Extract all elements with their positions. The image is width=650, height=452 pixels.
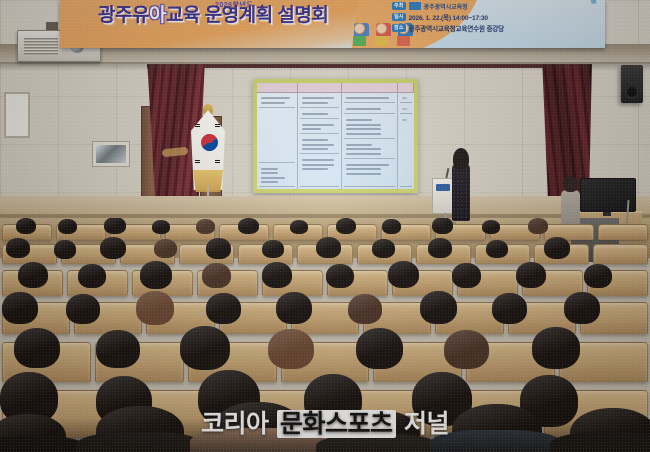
- attendee-head: [532, 327, 580, 369]
- watermark-highlight: 문화스포츠: [277, 410, 396, 438]
- attendee-head: [336, 218, 356, 234]
- attendee-head: [238, 218, 259, 234]
- attendee-head: [584, 264, 612, 288]
- banner-datetime-row: 일시 2026. 1. 22.(목) 14:00~17:30: [392, 12, 597, 23]
- trigram-top-right: [215, 124, 220, 128]
- attendee-head: [432, 218, 453, 234]
- attendee-head: [2, 292, 38, 324]
- venue-text: 광주광역시교육청교육연수원 중강당: [409, 23, 505, 33]
- organizer-name: 광주광역시교육청: [424, 2, 468, 11]
- attendee-head: [388, 261, 419, 288]
- banner-title: 광주유아교육 운영계획 설명회: [98, 6, 328, 25]
- slide-table-body: [257, 93, 414, 189]
- attendee-head: [206, 238, 231, 259]
- watermark: 코리아 문화스포츠 저널: [0, 404, 650, 440]
- attendee-head: [262, 262, 292, 288]
- attendee-head: [444, 330, 489, 369]
- taeguk-symbol-icon: [201, 134, 218, 151]
- attendee-head: [78, 264, 106, 288]
- attendee-head: [516, 262, 546, 288]
- attendee-head: [348, 294, 382, 324]
- attendee-head: [54, 240, 76, 259]
- attendee-head: [372, 239, 395, 258]
- banner-title-highlight: 아: [149, 5, 166, 26]
- trigram-top-left: [195, 124, 200, 128]
- wall-notice-frame: [4, 92, 30, 138]
- attendee-head: [16, 218, 36, 234]
- attendee-head: [100, 237, 126, 259]
- attendee-head: [140, 261, 172, 289]
- banner-title-part2: 교육 운영계획 설명회: [166, 5, 328, 26]
- presenter-figure: [450, 150, 472, 226]
- attendee-head: [564, 292, 600, 324]
- wall-control-window: [93, 142, 129, 166]
- attendee-head: [482, 220, 500, 234]
- attendee-head: [14, 328, 60, 368]
- soffit-shadow: [0, 62, 650, 71]
- attendee-head: [382, 219, 401, 234]
- event-banner: 2026학년도 광주유아교육 운영계획 설명회 주최 광주광역시교육청: [60, 0, 605, 48]
- attendee-head: [180, 326, 230, 370]
- slide-content: [257, 83, 414, 189]
- datetime-text: 2026. 1. 22.(목) 14:00~17:30: [409, 12, 488, 22]
- watermark-suffix: 저널: [404, 410, 449, 438]
- av-operator-hair: [563, 176, 578, 192]
- attendee-head: [326, 264, 354, 288]
- podium-nameplate: [436, 184, 450, 191]
- attendee-head: [6, 238, 30, 258]
- attendee-head: [428, 238, 452, 258]
- projector-vent: [24, 38, 58, 55]
- attendee-head: [58, 219, 77, 234]
- photograph-seminar-hall: 2026학년도 광주유아교육 운영계획 설명회 주최 광주광역시교육청: [0, 0, 650, 452]
- education-office-logo-icon: [409, 2, 421, 10]
- banner-info-block: 주최 광주광역시교육청 일시 2026. 1. 22.(목) 14:00~17:…: [392, 1, 597, 34]
- presenter-hair: [453, 148, 469, 170]
- attendee-head: [202, 263, 231, 288]
- attendee-head: [452, 263, 481, 288]
- attendee-head: [316, 237, 341, 258]
- attendee-head: [96, 330, 140, 368]
- attendee-head: [544, 237, 570, 259]
- venue-tag: 장소: [392, 24, 406, 32]
- attendee-head: [66, 294, 100, 324]
- banner-title-part1: 광주유: [98, 5, 149, 26]
- projection-screen: [253, 79, 418, 193]
- attendee-head: [486, 240, 508, 258]
- attendee-head: [104, 218, 126, 234]
- attendee-head: [152, 220, 170, 234]
- attendee-head: [18, 262, 48, 288]
- datetime-tag: 일시: [392, 13, 406, 21]
- trigram-bottom-right: [215, 160, 220, 164]
- slide-table-header: [257, 83, 414, 93]
- attendee-head: [206, 293, 241, 324]
- watermark-prefix: 코리아: [201, 410, 269, 438]
- attendee-head: [268, 329, 314, 369]
- attendee-head: [154, 239, 177, 258]
- organizer-tag: 주최: [392, 2, 406, 10]
- presenter-body: [452, 163, 470, 221]
- banner-venue-row: 장소 광주광역시교육청교육연수원 중강당: [392, 23, 597, 34]
- attendee-head: [276, 292, 312, 324]
- attendee-head: [290, 220, 308, 234]
- attendee-head: [356, 328, 403, 369]
- attendee-head: [420, 291, 457, 324]
- attendee-head: [262, 240, 284, 258]
- attendee-head: [492, 293, 527, 324]
- banner-organizer-row: 주최 광주광역시교육청: [392, 1, 597, 12]
- attendee-head: [136, 291, 174, 325]
- attendee-head: [528, 218, 548, 234]
- trigram-bottom-left: [195, 160, 200, 164]
- attendee-head: [196, 219, 215, 234]
